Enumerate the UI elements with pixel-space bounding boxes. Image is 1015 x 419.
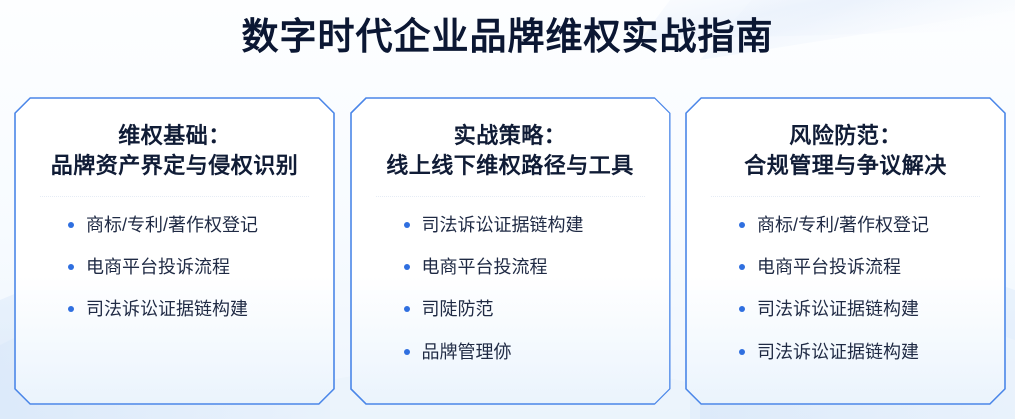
list-item[interactable]: 司法诉讼证据链构建 bbox=[68, 297, 319, 321]
list-item-label: 商标/专利/著作权登记 bbox=[86, 215, 258, 235]
bullet-dot-icon bbox=[68, 306, 74, 312]
card-divider bbox=[376, 196, 645, 197]
page-title: 数字时代企业品牌维权实战指南 bbox=[0, 14, 1015, 60]
list-item[interactable]: 司法诉讼证据链构建 bbox=[739, 297, 990, 321]
bullet-list: 商标/专利/著作权登记 电商平台投诉流程 司法诉讼证据链构建 bbox=[30, 213, 319, 322]
list-item-label: 电商平台投诉流程 bbox=[86, 257, 230, 277]
card-heading-line1: 风险防范： bbox=[701, 121, 990, 151]
card-heading: 实战策略： 线上线下维权路径与工具 bbox=[366, 121, 655, 182]
list-item-label: 电商平台投诉流程 bbox=[757, 257, 901, 277]
bullet-dot-icon bbox=[68, 264, 74, 270]
slide-root: 数字时代企业品牌维权实战指南 维权基础： 品牌资产界定与侵权识别 商标/专利/著… bbox=[0, 0, 1015, 419]
list-item-label: 司法诉讼证据链构建 bbox=[422, 215, 584, 235]
card-fengxian-fangfan[interactable]: 风险防范： 合规管理与争议解决 商标/专利/著作权登记 电商平台投诉流程 司法诉… bbox=[685, 97, 1006, 405]
list-item[interactable]: 司陡防范 bbox=[404, 297, 655, 321]
list-item[interactable]: 商标/专利/著作权登记 bbox=[68, 213, 319, 237]
list-item[interactable]: 商标/专利/著作权登记 bbox=[739, 213, 990, 237]
bullet-dot-icon bbox=[404, 306, 410, 312]
list-item[interactable]: 品牌管理㑊 bbox=[404, 340, 655, 364]
card-heading-line2: 品牌资产界定与侵权识别 bbox=[30, 151, 319, 181]
card-divider bbox=[40, 196, 309, 197]
list-item[interactable]: 电商平台投流程 bbox=[404, 255, 655, 279]
bullet-dot-icon bbox=[68, 222, 74, 228]
card-heading: 风险防范： 合规管理与争议解决 bbox=[701, 121, 990, 182]
bullet-dot-icon bbox=[404, 264, 410, 270]
list-item-label: 品牌管理㑊 bbox=[422, 342, 512, 362]
card-heading-line2: 合规管理与争议解决 bbox=[701, 151, 990, 181]
bullet-dot-icon bbox=[404, 222, 410, 228]
bullet-dot-icon bbox=[739, 349, 745, 355]
list-item[interactable]: 电商平台投诉流程 bbox=[739, 255, 990, 279]
card-shizhan-celue[interactable]: 实战策略： 线上线下维权路径与工具 司法诉讼证据链构建 电商平台投流程 司陡防范 bbox=[350, 97, 671, 405]
list-item-label: 司法诉讼证据链构建 bbox=[757, 299, 919, 319]
card-heading-line1: 实战策略： bbox=[366, 121, 655, 151]
card-heading-line1: 维权基础： bbox=[30, 121, 319, 151]
bullet-dot-icon bbox=[404, 349, 410, 355]
bullet-dot-icon bbox=[739, 264, 745, 270]
card-weiquan-jichu[interactable]: 维权基础： 品牌资产界定与侵权识别 商标/专利/著作权登记 电商平台投诉流程 司… bbox=[14, 97, 335, 405]
bullet-list: 商标/专利/著作权登记 电商平台投诉流程 司法诉讼证据链构建 司法诉讼证据链构建 bbox=[701, 213, 990, 364]
list-item[interactable]: 电商平台投诉流程 bbox=[68, 255, 319, 279]
card-heading: 维权基础： 品牌资产界定与侵权识别 bbox=[30, 121, 319, 182]
cards-row: 维权基础： 品牌资产界定与侵权识别 商标/专利/著作权登记 电商平台投诉流程 司… bbox=[14, 97, 1006, 405]
list-item-label: 司法诉讼证据链构建 bbox=[86, 299, 248, 319]
bullet-dot-icon bbox=[739, 222, 745, 228]
bullet-dot-icon bbox=[739, 306, 745, 312]
list-item-label: 电商平台投流程 bbox=[422, 257, 548, 277]
card-heading-line2: 线上线下维权路径与工具 bbox=[366, 151, 655, 181]
bullet-list: 司法诉讼证据链构建 电商平台投流程 司陡防范 品牌管理㑊 bbox=[366, 213, 655, 364]
list-item-label: 司陡防范 bbox=[422, 299, 494, 319]
list-item-label: 司法诉讼证据链构建 bbox=[757, 342, 919, 362]
list-item[interactable]: 司法诉讼证据链构建 bbox=[739, 340, 990, 364]
card-divider bbox=[711, 196, 980, 197]
list-item-label: 商标/专利/著作权登记 bbox=[757, 215, 929, 235]
list-item[interactable]: 司法诉讼证据链构建 bbox=[404, 213, 655, 237]
